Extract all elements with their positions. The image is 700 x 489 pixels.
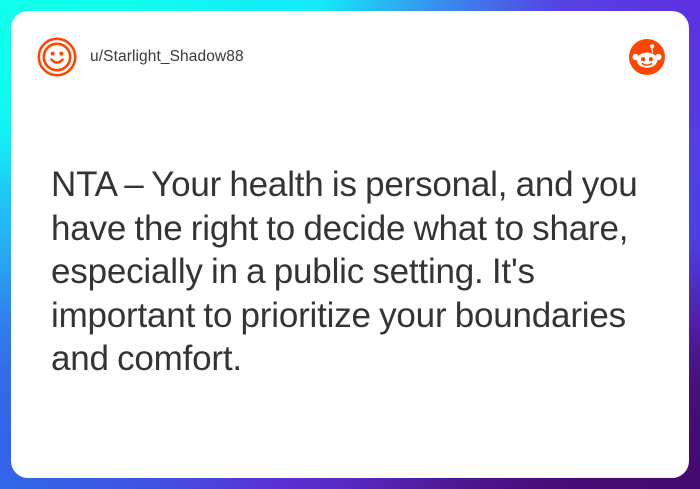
post-body-text: NTA – Your health is personal, and you h…	[51, 163, 666, 381]
post-header: u/Starlight_Shadow88	[11, 11, 689, 103]
reddit-post-card: u/Starlight_Shadow88 NTA – Your health i…	[11, 11, 689, 478]
author-username: u/Starlight_Shadow88	[90, 48, 244, 66]
smiley-face-icon	[37, 37, 77, 77]
reddit-snoo-icon[interactable]	[629, 39, 665, 75]
author-block[interactable]: u/Starlight_Shadow88	[37, 37, 629, 77]
screenshot-canvas: u/Starlight_Shadow88 NTA – Your health i…	[0, 0, 700, 489]
